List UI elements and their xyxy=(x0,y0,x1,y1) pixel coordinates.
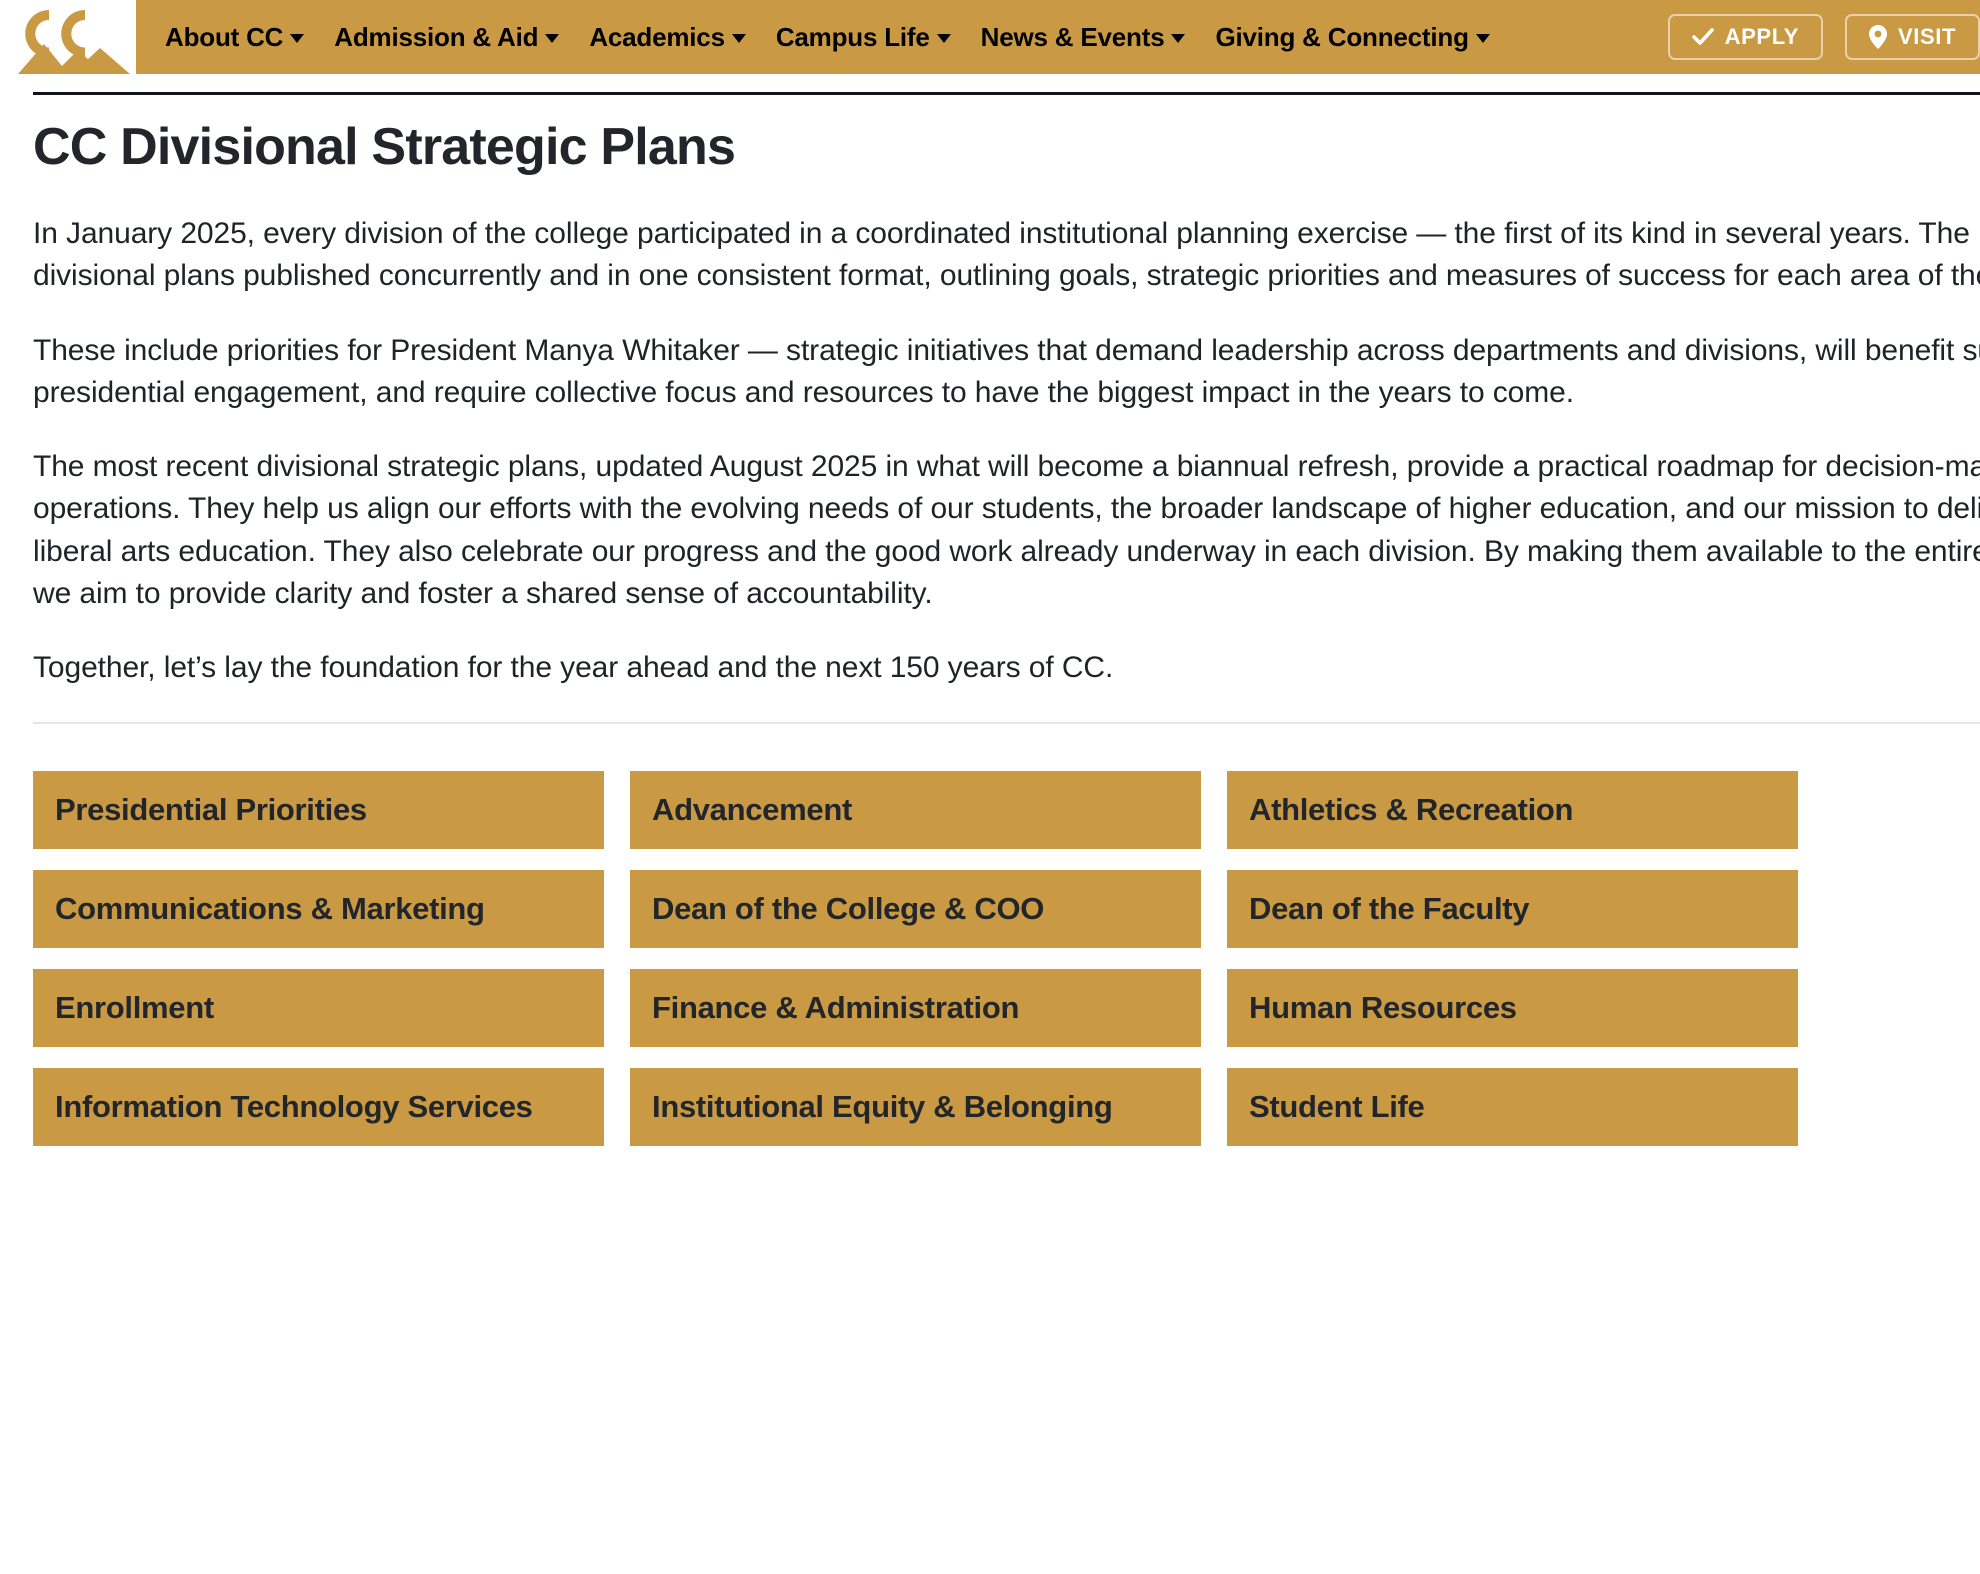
nav-item-about-cc[interactable]: About CC xyxy=(150,24,319,50)
apply-button[interactable]: APPLY xyxy=(1668,14,1823,60)
section-divider xyxy=(33,722,1980,724)
nav-item-label: Campus Life xyxy=(776,24,930,50)
plan-button-information-technology-services[interactable]: Information Technology Services xyxy=(33,1068,604,1146)
paragraph: In January 2025, every division of the c… xyxy=(33,213,1980,298)
nav-item-academics[interactable]: Academics xyxy=(574,24,761,50)
plan-button-label: Dean of the Faculty xyxy=(1249,891,1529,927)
site-header: About CC Admission & Aid Academics Campu… xyxy=(0,0,1980,74)
plan-button-enrollment[interactable]: Enrollment xyxy=(33,969,604,1047)
nav-item-label: Admission & Aid xyxy=(334,24,538,50)
plan-button-label: Finance & Administration xyxy=(652,990,1019,1026)
cc-logo[interactable] xyxy=(0,0,136,74)
nav-item-label: Academics xyxy=(589,24,725,50)
plan-button-advancement[interactable]: Advancement xyxy=(630,771,1201,849)
plan-button-label: Information Technology Services xyxy=(55,1089,533,1125)
main-content: CC Divisional Strategic Plans In January… xyxy=(0,92,1980,1146)
nav-item-news-events[interactable]: News & Events xyxy=(966,24,1201,50)
paragraph: Together, let’s lay the foundation for t… xyxy=(33,647,1980,689)
check-icon xyxy=(1692,28,1714,46)
plan-button-label: Human Resources xyxy=(1249,990,1517,1026)
paragraph: These include priorities for President M… xyxy=(33,330,1980,415)
chevron-down-icon xyxy=(732,34,746,43)
plan-button-human-resources[interactable]: Human Resources xyxy=(1227,969,1798,1047)
plan-button-finance-administration[interactable]: Finance & Administration xyxy=(630,969,1201,1047)
nav-item-admission-aid[interactable]: Admission & Aid xyxy=(319,24,574,50)
plan-button-label: Communications & Marketing xyxy=(55,891,485,927)
plan-button-institutional-equity-belonging[interactable]: Institutional Equity & Belonging xyxy=(630,1068,1201,1146)
page-title: CC Divisional Strategic Plans xyxy=(33,117,1980,177)
divisional-plans-grid: Presidential Priorities Advancement Athl… xyxy=(33,771,1980,1146)
plan-button-dean-of-the-faculty[interactable]: Dean of the Faculty xyxy=(1227,870,1798,948)
chevron-down-icon xyxy=(1171,34,1185,43)
visit-button[interactable]: VISIT xyxy=(1845,14,1980,60)
plan-button-label: Advancement xyxy=(652,792,852,828)
chevron-down-icon xyxy=(1476,34,1490,43)
main-nav: About CC Admission & Aid Academics Campu… xyxy=(150,24,1505,50)
cc-logo-icon xyxy=(0,0,136,74)
plan-button-athletics-recreation[interactable]: Athletics & Recreation xyxy=(1227,771,1798,849)
nav-item-campus-life[interactable]: Campus Life xyxy=(761,24,966,50)
plan-button-label: Institutional Equity & Belonging xyxy=(652,1089,1113,1125)
plan-button-label: Athletics & Recreation xyxy=(1249,792,1573,828)
nav-item-giving-connecting[interactable]: Giving & Connecting xyxy=(1200,24,1504,50)
chevron-down-icon xyxy=(290,34,304,43)
header-actions: APPLY VISIT xyxy=(1668,0,1980,74)
plan-button-presidential-priorities[interactable]: Presidential Priorities xyxy=(33,771,604,849)
title-rule xyxy=(33,92,1980,95)
map-pin-icon xyxy=(1869,25,1887,49)
chevron-down-icon xyxy=(545,34,559,43)
apply-button-label: APPLY xyxy=(1725,24,1799,50)
plan-button-label: Presidential Priorities xyxy=(55,792,367,828)
plan-button-label: Student Life xyxy=(1249,1089,1425,1125)
chevron-down-icon xyxy=(937,34,951,43)
plan-button-label: Dean of the College & COO xyxy=(652,891,1044,927)
plan-button-student-life[interactable]: Student Life xyxy=(1227,1068,1798,1146)
nav-item-label: News & Events xyxy=(981,24,1165,50)
paragraph: The most recent divisional strategic pla… xyxy=(33,446,1980,615)
intro-copy: In January 2025, every division of the c… xyxy=(33,213,1980,690)
plan-button-dean-of-the-college-coo[interactable]: Dean of the College & COO xyxy=(630,870,1201,948)
nav-item-label: About CC xyxy=(165,24,283,50)
plan-button-communications-marketing[interactable]: Communications & Marketing xyxy=(33,870,604,948)
visit-button-label: VISIT xyxy=(1898,24,1956,50)
plan-button-label: Enrollment xyxy=(55,990,214,1026)
nav-item-label: Giving & Connecting xyxy=(1215,24,1468,50)
